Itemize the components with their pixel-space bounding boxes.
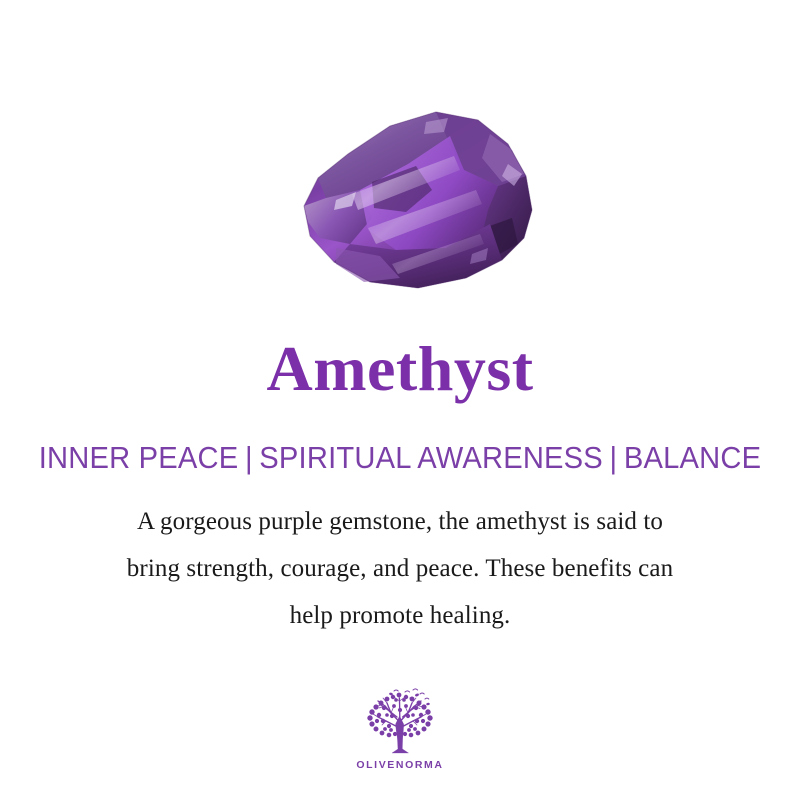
product-title: Amethyst [0,333,800,405]
amethyst-raw-stone [240,78,560,298]
product-image-container [0,78,800,298]
keyword-line: INNER PEACE|SPIRITUAL AWARENESS|BALANCE [24,440,776,476]
product-description: A gorgeous purple gemstone, the amethyst… [50,498,750,639]
keyword-balance: BALANCE [624,440,761,475]
amethyst-product-card: Amethyst INNER PEACE|SPIRITUAL AWARENESS… [0,0,800,800]
keyword-separator-2: | [603,440,624,476]
olivenorma-tree-logo [361,686,439,758]
keyword-spiritual-awareness: SPIRITUAL AWARENESS [259,440,603,475]
brand-wordmark: OLIVENORMA [0,759,800,771]
tree-root-flare [392,749,409,753]
description-line-2: bring strength, courage, and peace. Thes… [50,545,750,592]
keyword-inner-peace: INNER PEACE [39,440,239,475]
description-line-3: help promote healing. [50,592,750,639]
keyword-separator-1: | [238,440,259,476]
description-line-1: A gorgeous purple gemstone, the amethyst… [50,498,750,545]
brand-logo: OLIVENORMA [0,686,800,771]
